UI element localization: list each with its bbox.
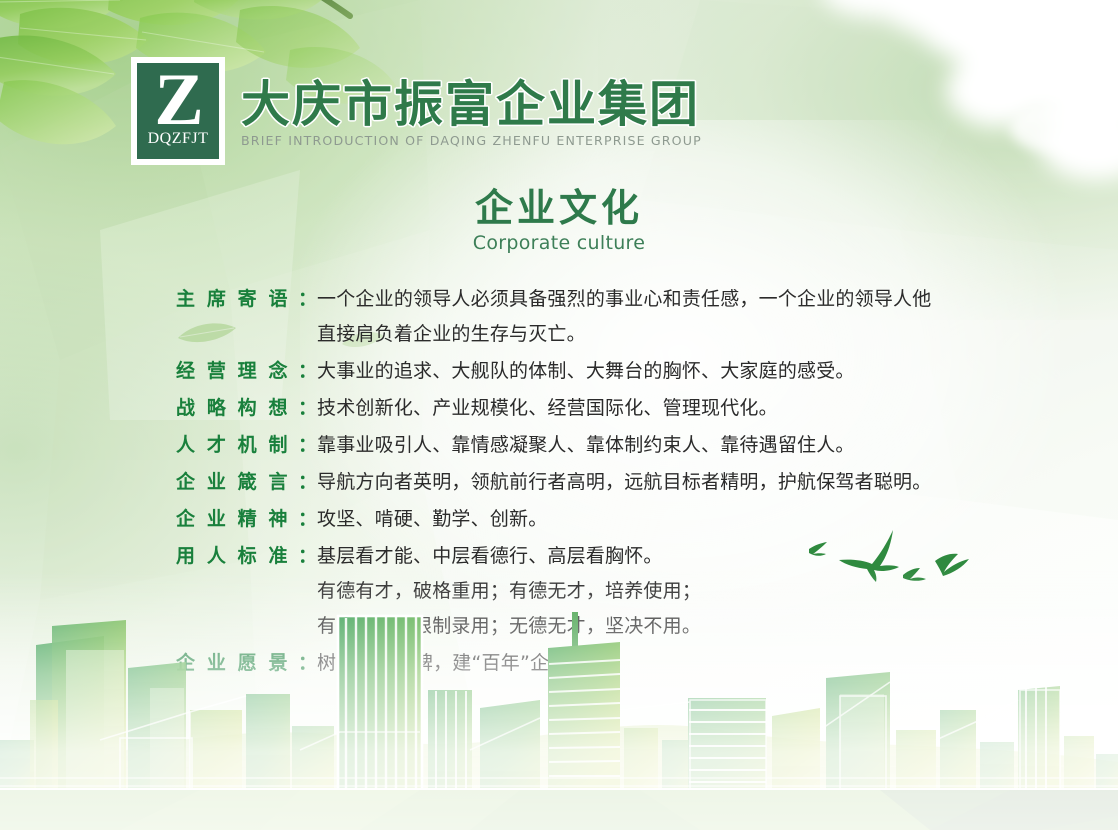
list-item: 战略构想 ： 技术创新化、产业规模化、经营国际化、管理现代化。: [176, 393, 1006, 424]
row-line: 导航方向者英明，领航前行者高明，远航目标者精明，护航保驾者聪明。: [317, 467, 1006, 498]
row-body: 一个企业的领导人必须具备强烈的事业心和责任感，一个企业的领导人他 直接肩负着企业…: [317, 284, 1006, 350]
row-label: 企业箴言: [176, 467, 298, 498]
row-line: 靠事业吸引人、靠情感凝聚人、靠体制约束人、靠待遇留住人。: [317, 430, 1006, 461]
row-colon: ：: [298, 284, 317, 315]
list-item: 经营理念 ： 大事业的追求、大舰队的体制、大舞台的胸怀、大家庭的感受。: [176, 356, 1006, 387]
poster-header: Z DQZFJT 大庆市振富企业集团 BRIEF INTRODUCTION OF…: [131, 57, 702, 165]
list-item: 主席寄语 ： 一个企业的领导人必须具备强烈的事业心和责任感，一个企业的领导人他 …: [176, 284, 1006, 350]
row-line: 直接肩负着企业的生存与灭亡。: [317, 319, 1006, 350]
logo-letter: Z: [154, 65, 201, 136]
row-colon: ：: [298, 541, 317, 572]
page-title: 企业文化: [0, 188, 1118, 230]
row-colon: ：: [298, 467, 317, 498]
birds-icon: [795, 523, 985, 593]
row-label: 用人标准: [176, 541, 298, 572]
row-label: 人才机制: [176, 430, 298, 461]
row-body: 大事业的追求、大舰队的体制、大舞台的胸怀、大家庭的感受。: [317, 356, 1006, 387]
company-logo: Z DQZFJT: [131, 57, 225, 165]
company-name-english: BRIEF INTRODUCTION OF DAQING ZHENFU ENTE…: [241, 133, 702, 148]
page-title-english: Corporate culture: [0, 232, 1118, 254]
row-body: 技术创新化、产业规模化、经营国际化、管理现代化。: [317, 393, 1006, 424]
logo-inner-block: Z DQZFJT: [137, 63, 219, 159]
header-title-block: 大庆市振富企业集团 BRIEF INTRODUCTION OF DAQING Z…: [241, 57, 702, 148]
logo-abbreviation: DQZFJT: [148, 130, 209, 148]
row-body: 导航方向者英明，领航前行者高明，远航目标者精明，护航保驾者聪明。: [317, 467, 1006, 498]
company-name: 大庆市振富企业集团: [241, 79, 702, 130]
row-colon: ：: [298, 430, 317, 461]
row-colon: ：: [298, 504, 317, 535]
row-label: 企业精神: [176, 504, 298, 535]
row-label: 主席寄语: [176, 284, 298, 315]
row-body: 靠事业吸引人、靠情感凝聚人、靠体制约束人、靠待遇留住人。: [317, 430, 1006, 461]
list-item: 企业箴言 ： 导航方向者英明，领航前行者高明，远航目标者精明，护航保驾者聪明。: [176, 467, 1006, 498]
row-line: 一个企业的领导人必须具备强烈的事业心和责任感，一个企业的领导人他: [317, 284, 1006, 315]
row-label: 战略构想: [176, 393, 298, 424]
poster-canvas: Z DQZFJT 大庆市振富企业集团 BRIEF INTRODUCTION OF…: [0, 0, 1118, 830]
row-colon: ：: [298, 393, 317, 424]
row-label: 经营理念: [176, 356, 298, 387]
ground-band: [0, 790, 1118, 830]
row-colon: ：: [298, 356, 317, 387]
list-item: 人才机制 ： 靠事业吸引人、靠情感凝聚人、靠体制约束人、靠待遇留住人。: [176, 430, 1006, 461]
section-title-block: 企业文化 Corporate culture: [0, 188, 1118, 254]
row-line: 技术创新化、产业规模化、经营国际化、管理现代化。: [317, 393, 1006, 424]
row-line: 大事业的追求、大舰队的体制、大舞台的胸怀、大家庭的感受。: [317, 356, 1006, 387]
